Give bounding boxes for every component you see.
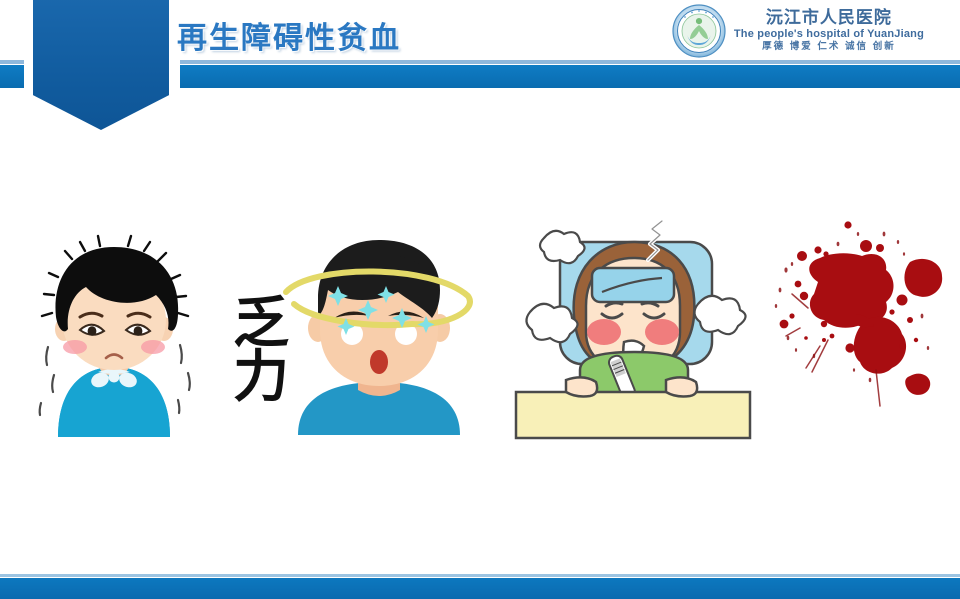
hospital-name-en: The people's hospital of YuanJiang bbox=[734, 29, 924, 41]
dizzy-man-illustration bbox=[272, 230, 487, 435]
header-bar-body bbox=[180, 65, 960, 88]
tired-boy-illustration: 乏力 bbox=[28, 225, 293, 440]
decorative-ribbon-shape bbox=[33, 0, 169, 130]
blood-splatter-illustration bbox=[762, 220, 958, 420]
hospital-emblem-icon bbox=[672, 4, 726, 58]
illustration-row: 乏力 bbox=[0, 175, 960, 475]
hospital-logo-text: 沅江市人民医院 The people's hospital of YuanJia… bbox=[734, 9, 924, 52]
header-bar-highlight bbox=[180, 60, 960, 64]
header-bar-body bbox=[0, 65, 24, 88]
slide-canvas: 再生障碍性贫血 bbox=[0, 0, 960, 599]
header-bar-main bbox=[180, 60, 960, 90]
hospital-name-cn: 沅江市人民医院 bbox=[766, 9, 892, 27]
header-bar-highlight bbox=[0, 60, 24, 64]
hospital-motto: 厚德 博爱 仁术 诚信 创新 bbox=[762, 42, 896, 52]
feverish-child-illustration bbox=[508, 220, 758, 445]
header-bar-left-stub bbox=[0, 60, 24, 90]
footer-bar bbox=[0, 578, 960, 599]
footer-highlight-line bbox=[0, 574, 960, 577]
page-title: 再生障碍性贫血 bbox=[177, 13, 401, 57]
hospital-logo: 沅江市人民医院 The people's hospital of YuanJia… bbox=[672, 4, 924, 58]
